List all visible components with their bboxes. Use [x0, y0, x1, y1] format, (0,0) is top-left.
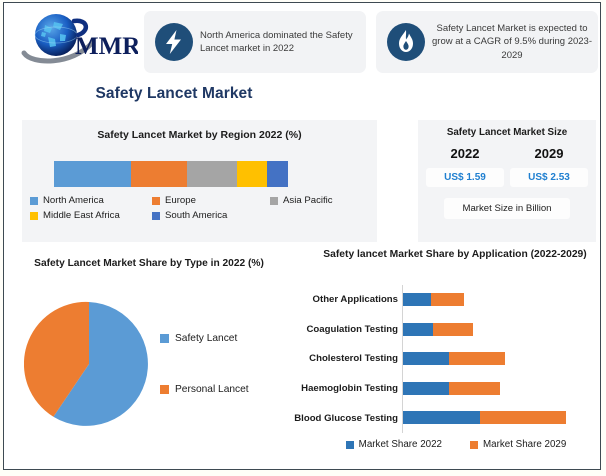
- category-label: Blood Glucose Testing: [248, 403, 398, 433]
- legend-swatch-icon: [160, 334, 169, 343]
- legend-swatch-icon: [160, 385, 169, 394]
- bar-2022: [403, 382, 449, 395]
- legend-label: North America: [43, 195, 104, 206]
- market-size-value-2022: US$ 1.59: [426, 168, 504, 187]
- page-title: Safety Lancet Market: [4, 85, 344, 103]
- category-label: Other Applications: [248, 285, 398, 315]
- application-chart-panel: Safety lancet Market Share by Applicatio…: [292, 243, 598, 469]
- legend-item-north-america: North America: [30, 195, 152, 206]
- globe-swoosh-icon: MMR: [18, 9, 138, 71]
- region-segment-middle-east-africa: [237, 161, 267, 187]
- legend-item-market-share-2029: Market Share 2029: [470, 439, 566, 450]
- application-chart-plot: Other Applications Coagulation Testing C…: [292, 285, 598, 433]
- bar-2029: [480, 411, 566, 424]
- lightning-bolt-icon: [154, 22, 194, 62]
- legend-item-europe: Europe: [152, 195, 270, 206]
- bar-group: [403, 382, 500, 395]
- bar-2022: [403, 323, 433, 336]
- legend-swatch-icon: [152, 212, 160, 220]
- fact-card-cagr: Safety Lancet Market is expected to grow…: [376, 11, 598, 73]
- bar-2022: [403, 293, 431, 306]
- fact-text: Safety Lancet Market is expected to grow…: [432, 11, 592, 73]
- logo-text: MMR: [75, 33, 138, 60]
- legend-swatch-icon: [152, 197, 160, 205]
- legend-item-market-share-2022: Market Share 2022: [346, 439, 442, 450]
- region-segment-europe: [131, 161, 187, 187]
- legend-swatch-icon: [30, 197, 38, 205]
- region-segment-south-america: [267, 161, 288, 187]
- infographic-frame: MMR North America dominated the Safety L…: [3, 2, 601, 470]
- legend-row: Middle East Africa South America: [30, 210, 370, 221]
- bar-2029: [433, 323, 473, 336]
- fact-card-north-america: North America dominated the Safety Lance…: [144, 11, 366, 73]
- header: MMR North America dominated the Safety L…: [4, 3, 600, 83]
- table-row: Other Applications: [292, 285, 598, 315]
- table-row: Haemoglobin Testing: [292, 374, 598, 404]
- bar-2022: [403, 411, 480, 424]
- bar-group: [403, 293, 464, 306]
- region-chart-title: Safety Lancet Market by Region 2022 (%): [22, 129, 377, 141]
- legend-label: Middle East Africa: [43, 210, 120, 221]
- region-chart-panel: Safety Lancet Market by Region 2022 (%) …: [22, 120, 377, 242]
- legend-swatch-icon: [30, 212, 38, 220]
- market-size-panel: Safety Lancet Market Size 2022 2029 US$ …: [418, 120, 596, 242]
- legend-label: Market Share 2022: [359, 439, 442, 450]
- fact-text: North America dominated the Safety Lance…: [200, 11, 360, 73]
- category-label: Haemoglobin Testing: [248, 374, 398, 404]
- legend-label: Market Share 2029: [483, 439, 566, 450]
- market-size-year-2022: 2022: [424, 146, 506, 161]
- bar-2022: [403, 352, 449, 365]
- bar-2029: [449, 382, 500, 395]
- legend-row: North America Europe Asia Pacific: [30, 195, 370, 206]
- region-stacked-bar: [54, 161, 288, 187]
- table-row: Blood Glucose Testing: [292, 403, 598, 433]
- application-chart-title: Safety lancet Market Share by Applicatio…: [316, 247, 594, 262]
- table-row: Cholesterol Testing: [292, 344, 598, 374]
- bar-group: [403, 352, 505, 365]
- flame-icon: [386, 22, 426, 62]
- legend-label: Europe: [165, 195, 196, 206]
- legend-item-south-america: South America: [152, 210, 227, 221]
- category-label: Cholesterol Testing: [248, 344, 398, 374]
- market-size-year-2029: 2029: [508, 146, 590, 161]
- type-chart-title: Safety Lancet Market Share by Type in 20…: [24, 257, 274, 272]
- legend-swatch-icon: [346, 441, 354, 449]
- legend-item-asia-pacific: Asia Pacific: [270, 195, 333, 206]
- type-pie-chart: [24, 299, 154, 429]
- bar-2029: [431, 293, 464, 306]
- bar-group: [403, 411, 566, 424]
- bar-2029: [449, 352, 505, 365]
- legend-swatch-icon: [270, 197, 278, 205]
- legend-label: Safety Lancet: [175, 333, 237, 344]
- legend-label: South America: [165, 210, 227, 221]
- application-chart-legend: Market Share 2022 Market Share 2029: [314, 439, 598, 450]
- market-size-unit-label: Market Size in Billion: [444, 198, 570, 219]
- region-segment-north-america: [54, 161, 131, 187]
- mmr-logo: MMR: [18, 9, 138, 71]
- legend-label: Asia Pacific: [283, 195, 333, 206]
- category-label: Coagulation Testing: [248, 315, 398, 345]
- bar-group: [403, 323, 473, 336]
- region-chart-legend: North America Europe Asia Pacific Middle…: [30, 195, 370, 225]
- market-size-value-2029: US$ 2.53: [510, 168, 588, 187]
- legend-swatch-icon: [470, 441, 478, 449]
- region-segment-asia-pacific: [187, 161, 236, 187]
- legend-label: Personal Lancet: [175, 384, 249, 395]
- legend-item-middle-east-africa: Middle East Africa: [30, 210, 152, 221]
- table-row: Coagulation Testing: [292, 315, 598, 345]
- market-size-title: Safety Lancet Market Size: [418, 127, 596, 138]
